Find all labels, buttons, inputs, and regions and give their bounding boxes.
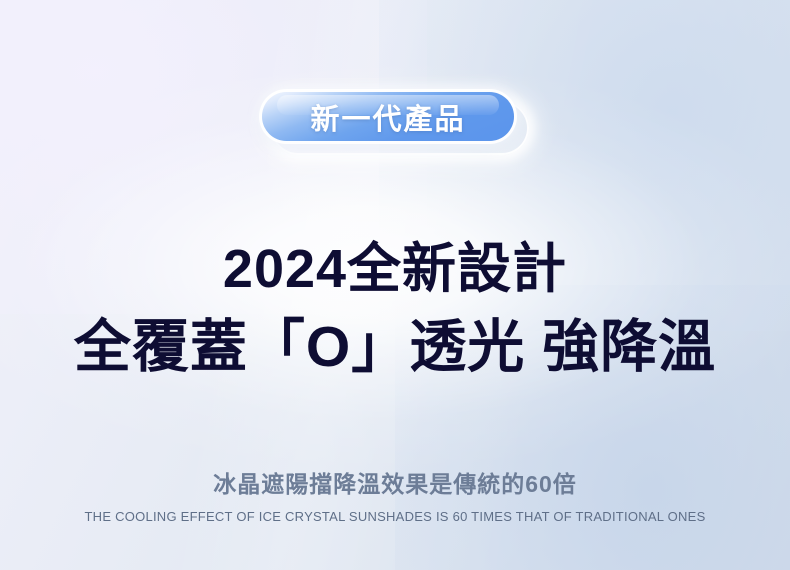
headline-line-2: 全覆蓋「O」透光 強降溫 — [0, 314, 790, 380]
headline-block: 2024全新設計 全覆蓋「O」透光 強降溫 — [0, 238, 790, 380]
badge-label: 新一代產品 — [310, 96, 465, 138]
headline-line-1: 2024全新設計 — [0, 238, 790, 300]
badge-container: 新一代產品 — [0, 92, 790, 154]
badge-pill: 新一代產品 — [262, 92, 514, 141]
promo-banner: 新一代產品 2024全新設計 全覆蓋「O」透光 強降溫 冰晶遮陽擋降溫效果是傳統… — [0, 0, 790, 570]
new-generation-badge[interactable]: 新一代產品 — [262, 92, 528, 154]
subtitle-english: THE COOLING EFFECT OF ICE CRYSTAL SUNSHA… — [0, 509, 790, 524]
subtitle-chinese: 冰晶遮陽擋降溫效果是傳統的60倍 — [0, 465, 790, 499]
